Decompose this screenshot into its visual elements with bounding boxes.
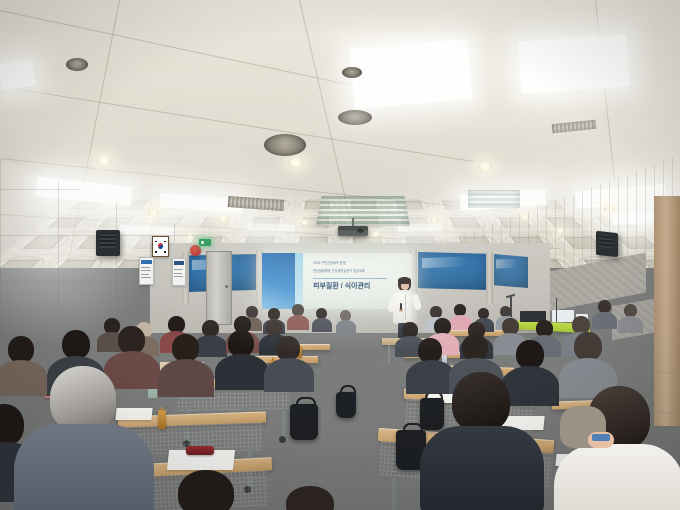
notice-text-line <box>174 273 182 274</box>
slide-accent-band <box>295 253 303 309</box>
slide-left-band <box>262 253 295 309</box>
desk-leg <box>282 406 285 438</box>
attendee-torso <box>554 444 680 510</box>
desk-caster <box>279 436 286 443</box>
notice-poster-left <box>139 257 154 285</box>
projector-mount <box>352 218 354 226</box>
ceiling-vent <box>264 134 306 156</box>
downlight <box>288 158 303 167</box>
slide-subtitle: 만성질환예방 건강생활실천가 양성교육 <box>313 269 365 273</box>
ceiling-light-panel <box>350 39 473 109</box>
eyeglass-case <box>186 446 214 455</box>
downlight <box>218 216 228 222</box>
ceiling-vent <box>342 67 362 78</box>
front-wall-blue-panel-right <box>418 252 490 290</box>
attendee-head <box>50 366 116 432</box>
projector-soffit <box>468 190 520 208</box>
downlight <box>430 218 439 223</box>
flag-frame <box>152 236 169 257</box>
attendee-shoulders <box>264 358 314 392</box>
attendee-torso <box>14 424 154 510</box>
attendee-head <box>516 340 544 369</box>
mobile-phone-icon <box>592 434 610 441</box>
handbag <box>336 392 356 418</box>
notice-text-line <box>174 276 183 277</box>
downlight <box>372 232 380 237</box>
lecture-hall-photo: 2023 구민건강대학 운영 만성질환예방 건강생활실천가 양성교육 피부질환 … <box>0 0 680 510</box>
handout-paper <box>115 408 152 420</box>
ceiling-light-panel <box>518 34 629 93</box>
attendee-shoulders <box>336 320 356 334</box>
notice-header <box>174 261 184 265</box>
projector-icon <box>338 226 368 236</box>
attendee-head <box>118 326 145 354</box>
attendee-head <box>452 372 510 432</box>
flag-trigram <box>155 241 157 243</box>
flag-trigram <box>155 251 157 253</box>
attendee-shoulders <box>592 312 617 329</box>
attendee-shoulders <box>287 315 309 330</box>
downlight <box>300 220 309 225</box>
handbag <box>290 404 318 440</box>
speaker-right <box>596 231 618 257</box>
speaker-left <box>96 230 120 256</box>
notice-text-line <box>141 274 149 275</box>
ceiling-light-panel <box>0 60 36 90</box>
ceiling-vent <box>66 58 88 71</box>
attendee-head <box>62 330 90 359</box>
downlight <box>96 156 112 165</box>
ceiling-vent <box>338 110 372 125</box>
attendee-head <box>574 332 602 361</box>
attendee-head <box>8 336 34 363</box>
coffer-inner-panel <box>449 217 481 227</box>
front-wall-column <box>486 252 493 304</box>
slide-title: 피부질환 / 식이관리 <box>313 283 370 291</box>
desk-leg <box>392 478 396 510</box>
front-wall-blue-panel-far-right <box>494 254 528 288</box>
notice-text-line <box>141 270 151 271</box>
attendee-shoulders <box>215 354 269 390</box>
projector-soffit <box>316 196 410 226</box>
door-knob-icon[interactable] <box>225 285 228 288</box>
flag-trigram <box>164 251 166 253</box>
notice-text-line <box>174 269 183 270</box>
slide-eyebrow: 2023 구민건강대학 운영 <box>313 261 346 265</box>
slide-rule <box>313 278 387 279</box>
attendee-shoulders <box>618 316 643 333</box>
flag-trigram <box>164 241 166 243</box>
exit-sign-icon <box>199 239 211 246</box>
handbag <box>420 398 444 430</box>
attendee-head <box>228 330 254 357</box>
attendee-head <box>462 334 488 361</box>
attendee-head <box>178 470 234 510</box>
bottle <box>158 410 166 429</box>
projector-lens <box>357 229 365 234</box>
attendee-shoulders <box>158 359 214 397</box>
side-door[interactable] <box>206 251 232 325</box>
attendee-head <box>172 334 199 362</box>
attendee-shoulders <box>0 360 48 396</box>
attendee-shoulders <box>312 318 332 332</box>
downlight <box>478 163 492 171</box>
notice-text-line <box>141 277 151 278</box>
presenter-hair <box>398 277 411 284</box>
notice-poster-right <box>172 258 186 286</box>
fire-alarm-bell-icon <box>190 245 201 256</box>
mic-stand <box>556 298 557 322</box>
notice-header <box>141 260 152 264</box>
notice-text-line <box>141 267 150 268</box>
attendee-torso <box>420 426 544 510</box>
